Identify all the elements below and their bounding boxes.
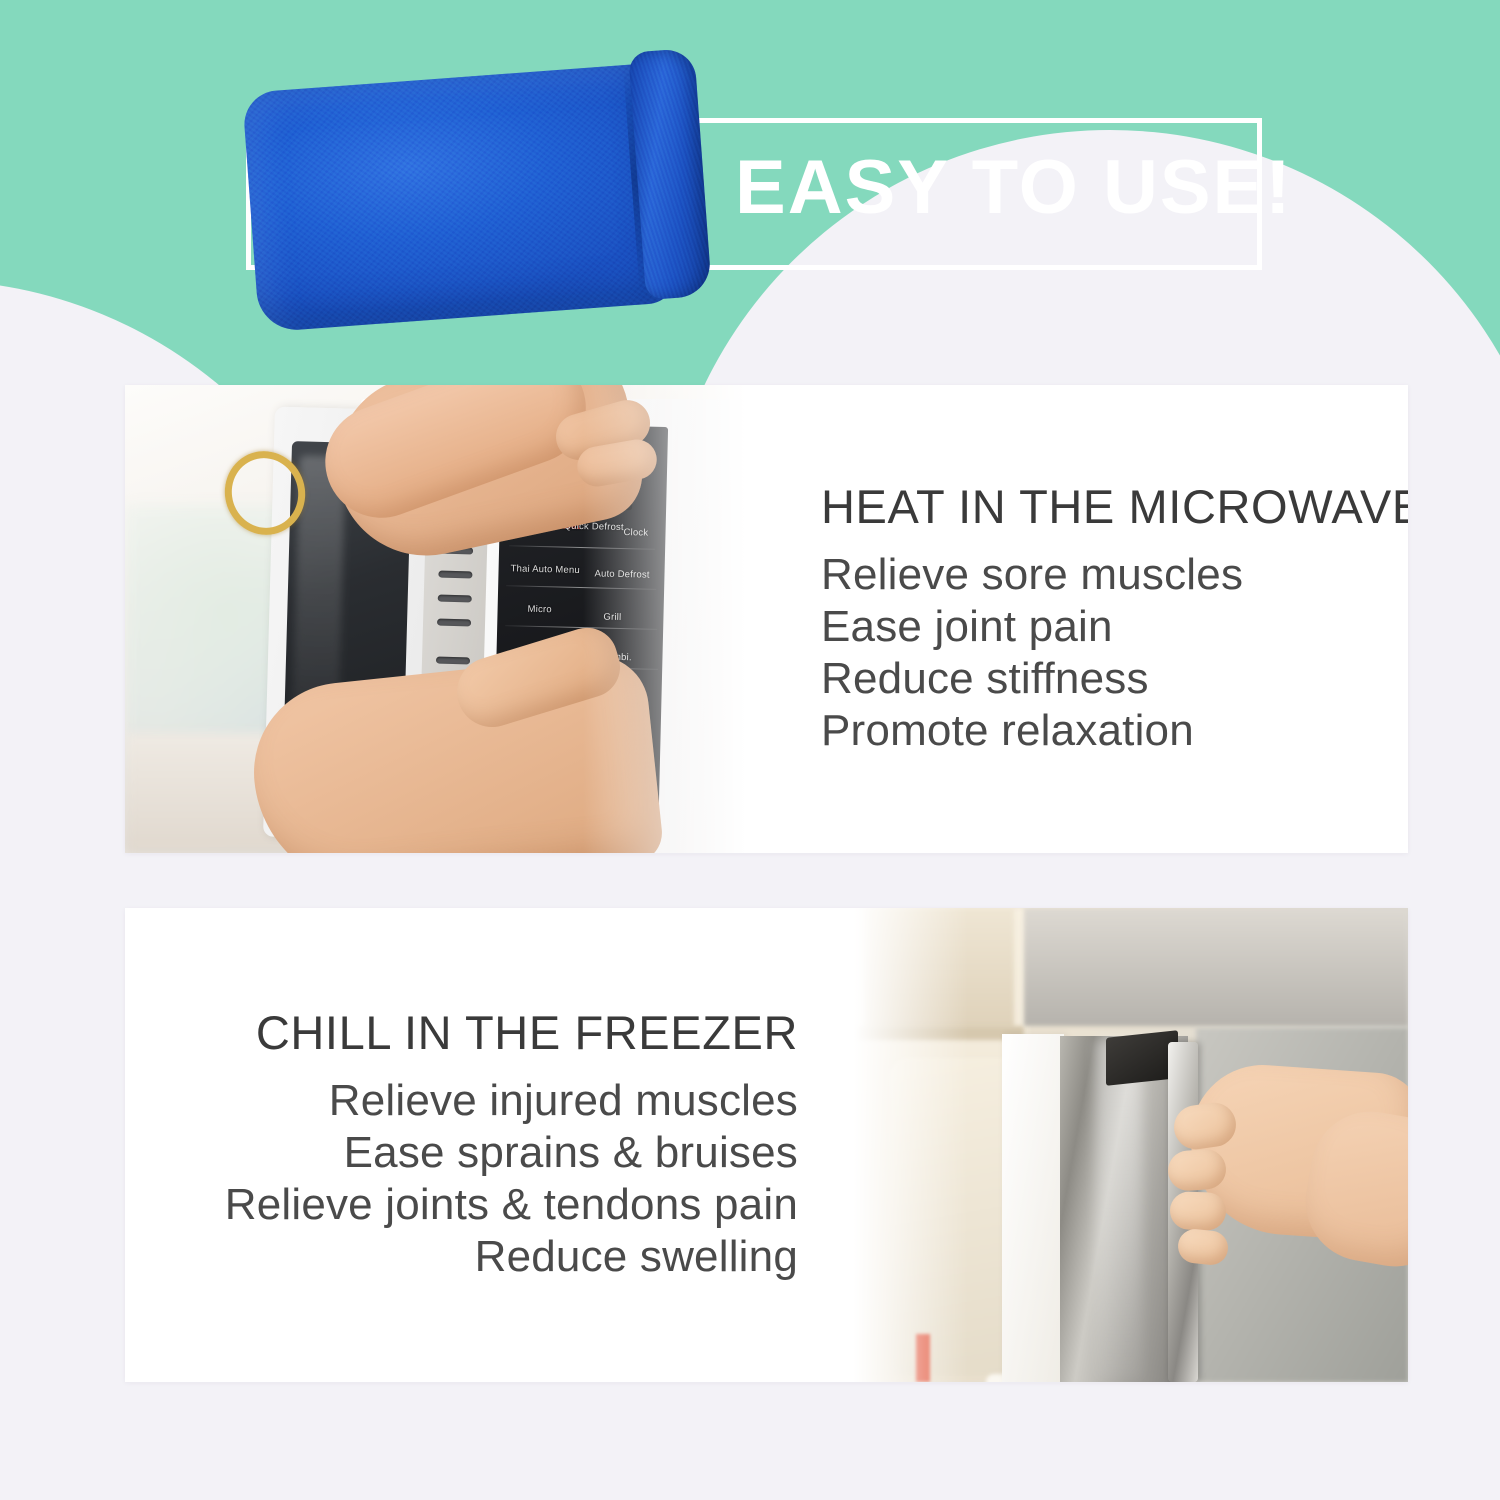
fridge-interior [890, 1058, 1020, 1376]
hero-banner: EASY TO USE! [0, 0, 1500, 420]
heat-bullet-1: Relieve sore muscles [821, 549, 1408, 601]
heat-bullet-4: Promote relaxation [821, 705, 1408, 757]
heat-bullet-2: Ease joint pain [821, 601, 1408, 653]
red-item [916, 1334, 930, 1382]
chill-bullet-1: Relieve injured muscles [329, 1075, 798, 1127]
product-pack-image [241, 46, 719, 341]
section-card-chill: CHILL IN THE FREEZER Relieve injured mus… [125, 908, 1408, 1382]
heat-bullet-3: Reduce stiffness [821, 653, 1408, 705]
cabinet-shelf [856, 1026, 1024, 1040]
button-auto-defrost[interactable]: Auto Defrost [594, 568, 649, 580]
section-title-heat: HEAT IN THE MICROWAVE [821, 482, 1408, 531]
microwave-photo: Crispy Reheat Quick Defrost Clock Thai A… [125, 385, 773, 853]
button-micro[interactable]: Micro [527, 604, 551, 616]
freezer-door-inner [1002, 1034, 1064, 1382]
pack-body [242, 62, 678, 332]
button-clock[interactable]: Clock [623, 527, 648, 539]
button-thai-auto-menu[interactable]: Thai Auto Menu [510, 563, 580, 576]
upper-cabinet [864, 908, 1014, 1028]
infographic-page: EASY TO USE! [0, 0, 1500, 1500]
chill-copy-block: CHILL IN THE FREEZER Relieve injured mus… [125, 908, 838, 1382]
chill-bullet-2: Ease sprains & bruises [344, 1127, 798, 1179]
finger-3 [1169, 1191, 1226, 1231]
freezer-photo [838, 908, 1408, 1382]
section-title-chill: CHILL IN THE FREEZER [256, 1008, 798, 1057]
button-grill[interactable]: Grill [603, 612, 621, 623]
heat-copy-block: HEAT IN THE MICROWAVE Relieve sore muscl… [773, 385, 1408, 853]
forearm-upper [310, 385, 602, 534]
section-card-heat: Crispy Reheat Quick Defrost Clock Thai A… [125, 385, 1408, 853]
hero-title: EASY TO USE! [735, 150, 1293, 226]
fridge-top [1024, 908, 1408, 1026]
chill-bullet-4: Reduce swelling [475, 1231, 798, 1283]
chill-bullet-3: Relieve joints & tendons pain [225, 1179, 798, 1231]
